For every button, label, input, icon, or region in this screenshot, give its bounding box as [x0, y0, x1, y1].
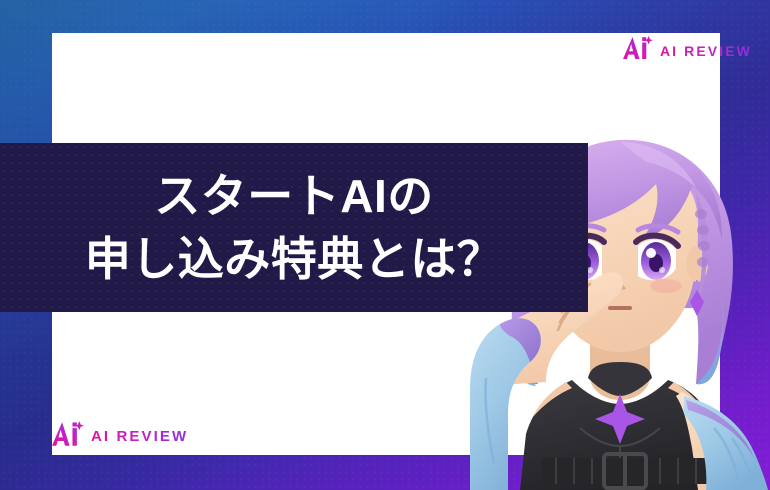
- title-line-2: 申し込み特典とは？: [85, 229, 504, 290]
- title-band: スタートAIの 申し込み特典とは？: [0, 143, 588, 312]
- logo-top-text: AI REVIEW: [660, 43, 752, 59]
- ai-logo-mark-icon: [623, 36, 653, 65]
- title-line-1: スタートAIの: [154, 166, 434, 227]
- logo-top-right[interactable]: AI REVIEW: [623, 36, 752, 65]
- ai-logo-mark-icon: [52, 421, 84, 452]
- hero-banner: スタートAIの 申し込み特典とは？ AI REVIEW: [0, 0, 770, 490]
- title-text-group: スタートAIの 申し込み特典とは？: [0, 143, 588, 312]
- logo-bottom-text: AI REVIEW: [91, 428, 188, 445]
- logo-bottom-left[interactable]: AI REVIEW: [52, 421, 188, 452]
